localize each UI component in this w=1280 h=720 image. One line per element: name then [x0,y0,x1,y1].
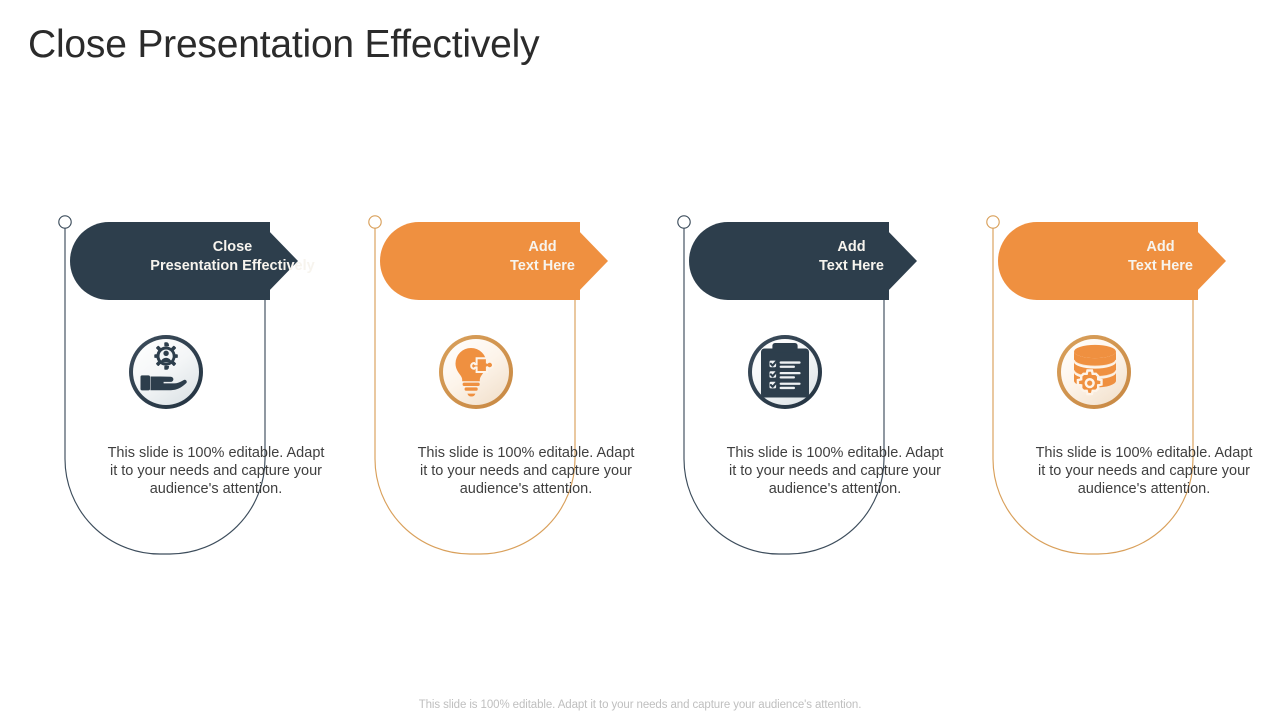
marker-dot [987,216,999,228]
card-body-text: This slide is 100% editable. Adapt it to… [724,444,946,498]
card-graphics [370,0,680,720]
card-1[interactable]: ClosePresentation EffectivelyThis slide … [60,0,370,720]
card-banner[interactable] [380,222,608,300]
marker-dot [678,216,690,228]
marker-dot [369,216,381,228]
card-graphics [679,0,989,720]
clipboard-checklist-icon [749,336,821,408]
card-banner[interactable] [689,222,917,300]
card-graphics [988,0,1280,720]
hand-gear-person-icon [130,336,202,408]
marker-dot [59,216,71,228]
database-gear-icon [1058,336,1130,408]
lightbulb-puzzle-icon [440,336,512,408]
card-banner[interactable] [70,222,298,300]
card-body-text: This slide is 100% editable. Adapt it to… [1033,444,1255,498]
card-2[interactable]: AddText HereThis slide is 100% editable.… [370,0,680,720]
card-4[interactable]: AddText HereThis slide is 100% editable.… [988,0,1280,720]
card-banner[interactable] [998,222,1226,300]
cards-container: ClosePresentation EffectivelyThis slide … [0,0,1280,720]
card-3[interactable]: AddText HereThis slide is 100% editable.… [679,0,989,720]
card-body-text: This slide is 100% editable. Adapt it to… [105,444,327,498]
card-body-text: This slide is 100% editable. Adapt it to… [415,444,637,498]
card-graphics [60,0,370,720]
footer-note: This slide is 100% editable. Adapt it to… [0,699,1280,711]
